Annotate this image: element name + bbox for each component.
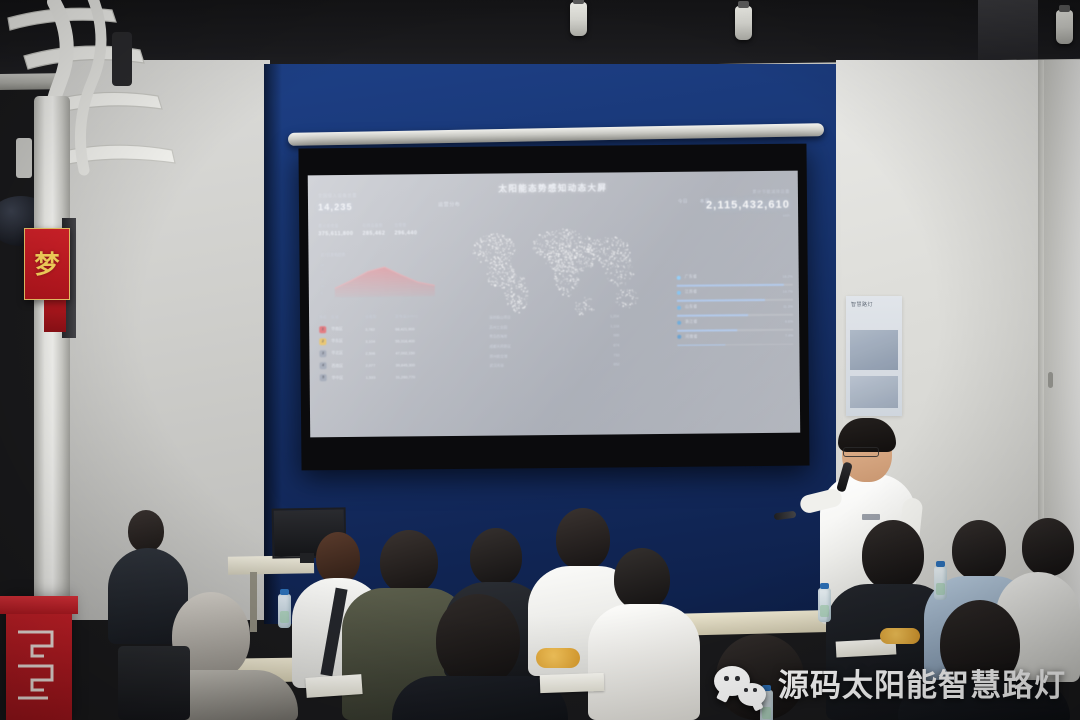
total-saving-unit: kWh [678, 214, 790, 219]
y-tick: 60 [321, 262, 324, 269]
left-kpi-panel: 全国接入设备总量 14,235 累计发电量 375,611,800 在线设备数 … [318, 192, 438, 237]
water-bottle[interactable] [934, 566, 947, 600]
chinese-style-column [6, 596, 72, 720]
lamp-pole [34, 96, 70, 626]
total-saving-label: 累计节能减排总量 [678, 189, 790, 196]
red-banner: 梦 [24, 228, 70, 300]
table-leg [250, 572, 257, 632]
wechat-eye [744, 688, 748, 692]
watermark: 源码太阳能智慧路灯 [714, 666, 1066, 706]
chart-y-ticks: 60 45 30 15 0 [321, 262, 325, 297]
audience-head [380, 530, 438, 594]
kpi-item: 累计发电量 375,611,800 [318, 224, 353, 237]
dashboard: 太阳能态势感知动态大屏 运营分布 今日 本月 全国接入设备总量 14,235 累… [308, 171, 800, 438]
list-item[interactable]: 江苏省14.7% [677, 286, 793, 302]
list-item[interactable]: 武汉光谷652 [490, 360, 620, 371]
total-saving-value: 2,115,432,610 [678, 199, 790, 212]
chart-area-path [335, 262, 435, 297]
audience-head [862, 520, 924, 590]
audience-head [556, 508, 610, 570]
meander-pattern-icon [12, 620, 66, 714]
bottle-cap [820, 583, 829, 589]
kpi-value: 296,440 [394, 230, 417, 236]
glasses-icon [843, 447, 879, 457]
ceiling-spotlight [1056, 10, 1073, 44]
kpi-label: 告警数 [394, 223, 417, 228]
y-tick: 30 [321, 276, 324, 283]
kpi-label: 累计发电量 [318, 224, 353, 229]
trend-chart: 近7日发电趋势 60 45 30 15 0 [320, 252, 438, 303]
col-area: 区域 [331, 315, 365, 320]
list-item[interactable]: 广东省18.2% [677, 271, 793, 287]
kpi-item: 告警数 296,440 [394, 223, 417, 236]
kpi-value: 285,462 [362, 231, 385, 237]
audience-head [470, 528, 522, 586]
solar-street-lamp-display [0, 0, 209, 226]
list-item[interactable]: 山东省11.3% [677, 300, 793, 316]
wechat-eye [724, 676, 729, 681]
table-body: 1华南区3,78268,421,9002华东区3,10455,318,4003华… [319, 322, 475, 384]
region-rank-table: 排名 区域 设备数 发电量(kWh) 1华南区3,78268,421,9002华… [319, 314, 475, 384]
ceiling-spotlight [570, 2, 587, 36]
water-bottle[interactable] [278, 594, 291, 628]
slide-subhead: 运营分布 [438, 201, 460, 208]
watermark-text: 源码太阳能智慧路灯 [778, 671, 1066, 702]
audience-head [1022, 518, 1074, 576]
snack-plate [880, 628, 920, 644]
kpi-item: 在线设备数 285,462 [362, 224, 385, 237]
list-item[interactable]: 浙江省9.6% [677, 315, 793, 331]
banner-tail [44, 296, 66, 332]
audience-head [128, 510, 164, 552]
col-output: 发电量(kWh) [395, 314, 455, 320]
total-devices-value: 14,235 [318, 201, 438, 212]
wechat-bubble-small [738, 683, 766, 706]
kpi-row: 累计发电量 375,611,800 在线设备数 285,462 告警数 296,… [318, 223, 438, 237]
poster-title: 智慧路灯 [851, 301, 873, 308]
kpi-value: 375,611,800 [318, 231, 353, 237]
audience-body [588, 604, 700, 720]
ceiling-vent [978, 0, 1038, 66]
chair-back [118, 646, 190, 720]
wechat-eye [735, 676, 740, 681]
poster-image-top [850, 330, 898, 370]
presentation-room-photo: 智慧路灯 太阳能态势感知动态大屏 运营分布 今日 本月 全国接入设备总量 14,… [0, 0, 1080, 720]
y-tick: 15 [321, 283, 324, 290]
province-ranking-list: 广东省18.2%江苏省14.7%山东省11.3%浙江省9.6%河南省7.4% [677, 271, 794, 346]
handout-paper[interactable] [305, 674, 362, 698]
audience-head [952, 520, 1006, 580]
door-handle[interactable] [1048, 372, 1053, 388]
world-map-dot-visual [458, 214, 659, 334]
projected-slide: 太阳能态势感知动态大屏 运营分布 今日 本月 全国接入设备总量 14,235 累… [308, 171, 800, 438]
audience-head [316, 532, 360, 584]
right-kpi-panel: 累计节能减排总量 2,115,432,610 kWh [678, 189, 790, 219]
poster-image-bottom [850, 376, 898, 408]
bottle-cap [280, 589, 289, 595]
chart-title: 近7日发电趋势 [320, 252, 438, 258]
y-tick: 0 [321, 290, 324, 297]
table-header: 排名 区域 设备数 发电量(kWh) [319, 314, 474, 323]
list-item[interactable]: 河南省7.4% [677, 330, 793, 346]
water-bottle[interactable] [818, 588, 831, 622]
column-cap [0, 596, 78, 614]
total-devices-label: 全国接入设备总量 [318, 192, 438, 199]
col-devices: 设备数 [365, 315, 395, 320]
kpi-label: 在线设备数 [362, 224, 385, 229]
handout-paper[interactable] [540, 673, 605, 693]
wechat-eye [753, 688, 757, 692]
table-row[interactable]: 5华中区1,53331,260,770 [320, 371, 475, 385]
banner-character: 梦 [34, 252, 59, 277]
projection-screen: 太阳能态势感知动态大屏 运营分布 今日 本月 全国接入设备总量 14,235 累… [298, 144, 809, 471]
shirt-logo [862, 514, 880, 520]
col-rank: 排名 [319, 315, 331, 320]
wechat-icon [714, 666, 766, 706]
monitor-stand [300, 553, 314, 563]
ceiling-spotlight [735, 6, 752, 40]
bottle-cap [936, 561, 945, 567]
snack-plate [536, 648, 580, 668]
wall-poster: 智慧路灯 [846, 296, 902, 416]
y-tick: 45 [321, 269, 324, 276]
audience-head [614, 548, 670, 610]
audience-head [436, 594, 520, 686]
